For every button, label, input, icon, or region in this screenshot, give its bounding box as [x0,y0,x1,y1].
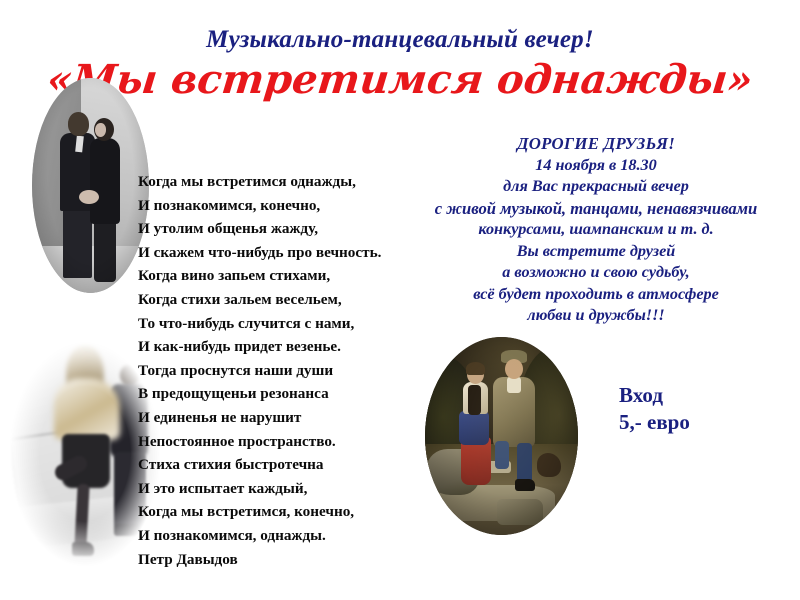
poster-canvas: Музыкально-танцевальный вечер! «Мы встре… [0,0,800,600]
dancers-man-head [120,364,140,386]
poem-author: Петр Давыдов [138,548,438,572]
poster-headline-primary: Музыкально-танцевальный вечер! [0,26,800,54]
oil-painting-couple-oval [425,337,578,535]
entry-price-amount: 5,- евро [619,409,690,436]
poem-line: В предощущеньи резонанса [138,382,438,406]
invitation-datetime: 14 ноября в 18.30 [392,155,800,177]
poem-line: Непостоянное пространство. [138,430,438,454]
poem-line: И единенья не нарушит [138,406,438,430]
entry-price-label: Вход [619,382,690,409]
invitation-line: любви и дружбы!!! [392,305,800,327]
invitation-line: всё будет проходить в атмосфере [392,284,800,306]
dancers-woman-top [54,378,120,440]
invitation-line: а возможно и свою судьбу, [392,262,800,284]
poem-line: И познакомимся, однажды. [138,524,438,548]
entry-price-block: Вход 5,- евро [619,382,690,436]
invitation-line: конкурсами, шампанским и т. д. [392,219,800,241]
poem-line: Стиха стихия быстротечна [138,453,438,477]
invitation-line: для Вас прекрасный вечер [392,176,800,198]
photo-vignette [32,78,149,293]
poem-line: Тогда проснутся наши души [138,359,438,383]
invitation-block: ДОРОГИЕ ДРУЗЬЯ! 14 ноября в 18.30 для Ва… [392,133,800,327]
invitation-line: с живой музыкой, танцами, ненавязчивами [392,198,800,220]
dancers-woman-shoe [72,542,94,556]
poem-line: И как-нибудь придет везенье. [138,335,438,359]
couple-photo-bw-oval [32,78,149,293]
invitation-salutation: ДОРОГИЕ ДРУЗЬЯ! [392,133,800,155]
poem-line: Когда мы встретимся, конечно, [138,500,438,524]
invitation-line: Вы встретите друзей [392,241,800,263]
painting-varnish-overlay [425,337,578,535]
poem-line: И это испытает каждый, [138,477,438,501]
